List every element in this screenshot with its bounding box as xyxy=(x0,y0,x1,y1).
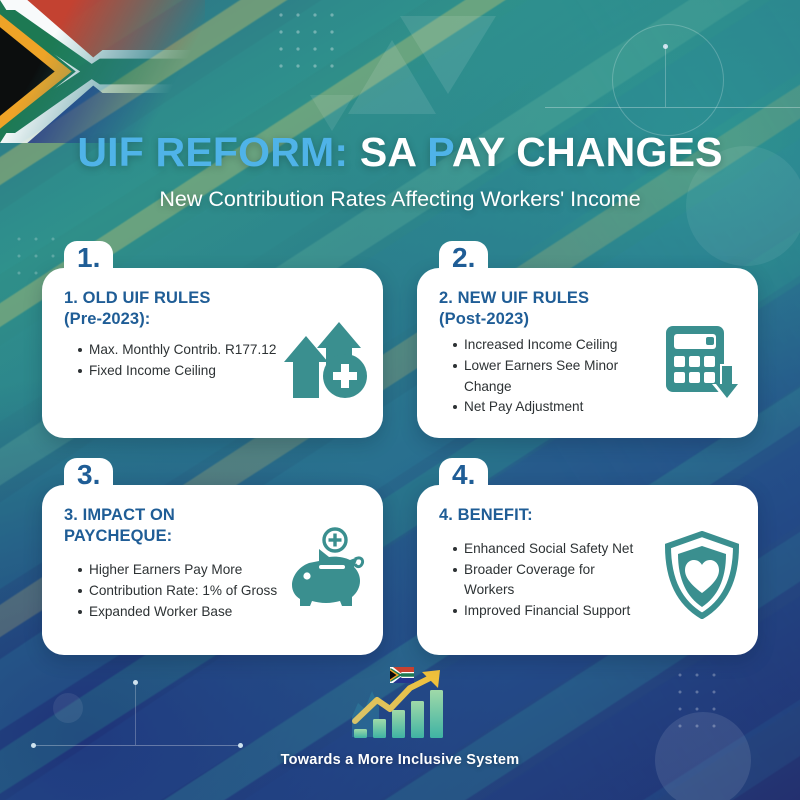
decor-triangle-down xyxy=(400,16,496,94)
infographic-poster: UIF REFORM: SA PAY CHANGES New Contribut… xyxy=(0,0,800,800)
list-item: Fixed Income Ceiling xyxy=(78,361,278,382)
page-subtitle: New Contribution Rates Affecting Workers… xyxy=(0,187,800,212)
card-2-heading: 2. NEW UIF RULES (Post-2023) xyxy=(439,288,647,330)
card-1-bullets: Max. Monthly Contrib. R177.12 Fixed Inco… xyxy=(64,340,278,381)
card-3-bullets: Higher Earners Pay More Contribution Rat… xyxy=(64,560,278,622)
card-2-wrapper: 2. xyxy=(417,268,758,438)
shield-heart-icon xyxy=(662,531,742,624)
growth-bar-chart-arrow-flag-icon xyxy=(0,667,800,746)
list-item: Expanded Worker Base xyxy=(78,602,278,623)
card-3-badge: 3. xyxy=(64,458,113,498)
card-1-content: 1. OLD UIF RULES (Pre-2023): Max. Monthl… xyxy=(64,288,278,382)
cards-row-2: 3. xyxy=(42,485,758,655)
title-part-p: P xyxy=(427,129,452,175)
card-2-heading-main: 2. NEW UIF RULES xyxy=(439,289,589,307)
list-item: Max. Monthly Contrib. R177.12 xyxy=(78,340,278,361)
list-item: Contribution Rate: 1% of Gross xyxy=(78,581,278,602)
title-part-uif-reform: UIF REFORM: xyxy=(77,129,348,175)
card-1-wrapper: 1. xyxy=(42,268,383,438)
cards-grid: 1. xyxy=(42,268,758,655)
card-2-subheading: (Post-2023) xyxy=(439,309,647,330)
list-item: Broader Coverage for Workers xyxy=(453,560,647,601)
card-1-heading-main: 1. OLD UIF RULES xyxy=(64,289,210,307)
card-3-heading-main: 3. IMPACT ON PAYCHEQUE: xyxy=(64,506,175,545)
card-old-uif-rules[interactable]: 1. OLD UIF RULES (Pre-2023): Max. Monthl… xyxy=(42,268,383,438)
card-4-bullets: Enhanced Social Safety Net Broader Cover… xyxy=(439,539,647,622)
card-4-heading: 4. BENEFIT: xyxy=(439,505,647,526)
card-benefit[interactable]: 4. BENEFIT: Enhanced Social Safety Net B… xyxy=(417,485,758,655)
decor-circle-large xyxy=(612,24,724,136)
list-item: Net Pay Adjustment xyxy=(453,397,647,418)
decor-triangle-down-small xyxy=(310,95,354,131)
decor-hairline-top-right xyxy=(545,107,800,108)
double-up-arrow-plus-icon xyxy=(283,320,369,403)
card-3-wrapper: 3. xyxy=(42,485,383,655)
page-title: UIF REFORM: SA PAY CHANGES xyxy=(0,132,800,173)
list-item: Increased Income Ceiling xyxy=(453,335,647,356)
list-item: Improved Financial Support xyxy=(453,601,647,622)
decor-dot-grid-top xyxy=(278,12,350,89)
title-part-sa: SA xyxy=(348,129,427,175)
header: UIF REFORM: SA PAY CHANGES New Contribut… xyxy=(0,132,800,212)
calculator-down-arrow-icon xyxy=(664,324,746,409)
card-impact-on-paycheque[interactable]: 3. IMPACT ON PAYCHEQUE: Higher Earners P… xyxy=(42,485,383,655)
piggy-bank-coin-icon xyxy=(285,527,369,616)
card-2-badge: 2. xyxy=(439,241,488,281)
card-4-heading-main: 4. BENEFIT: xyxy=(439,506,533,524)
card-1-heading: 1. OLD UIF RULES (Pre-2023): xyxy=(64,288,278,330)
card-4-badge: 4. xyxy=(439,458,488,498)
south-africa-flag xyxy=(0,0,205,143)
card-1-badge: 1. xyxy=(64,241,113,281)
card-2-content: 2. NEW UIF RULES (Post-2023) Increased I… xyxy=(439,288,647,418)
list-item: Lower Earners See Minor Change xyxy=(453,356,647,397)
list-item: Enhanced Social Safety Net xyxy=(453,539,647,560)
card-new-uif-rules[interactable]: 2. NEW UIF RULES (Post-2023) Increased I… xyxy=(417,268,758,438)
decor-hairline-vert-top xyxy=(665,46,666,107)
card-4-content: 4. BENEFIT: Enhanced Social Safety Net B… xyxy=(439,505,647,622)
card-3-content: 3. IMPACT ON PAYCHEQUE: Higher Earners P… xyxy=(64,505,278,622)
card-1-subheading: (Pre-2023): xyxy=(64,309,278,330)
card-4-wrapper: 4. 4. BENEFIT: Enhan xyxy=(417,485,758,655)
footer: Towards a More Inclusive System xyxy=(0,667,800,768)
cards-row-1: 1. xyxy=(42,268,758,438)
card-3-heading: 3. IMPACT ON PAYCHEQUE: xyxy=(64,505,278,547)
list-item: Higher Earners Pay More xyxy=(78,560,278,581)
footer-caption: Towards a More Inclusive System xyxy=(0,752,800,768)
title-part-ay-changes: AY CHANGES xyxy=(452,129,723,175)
card-2-bullets: Increased Income Ceiling Lower Earners S… xyxy=(439,335,647,418)
